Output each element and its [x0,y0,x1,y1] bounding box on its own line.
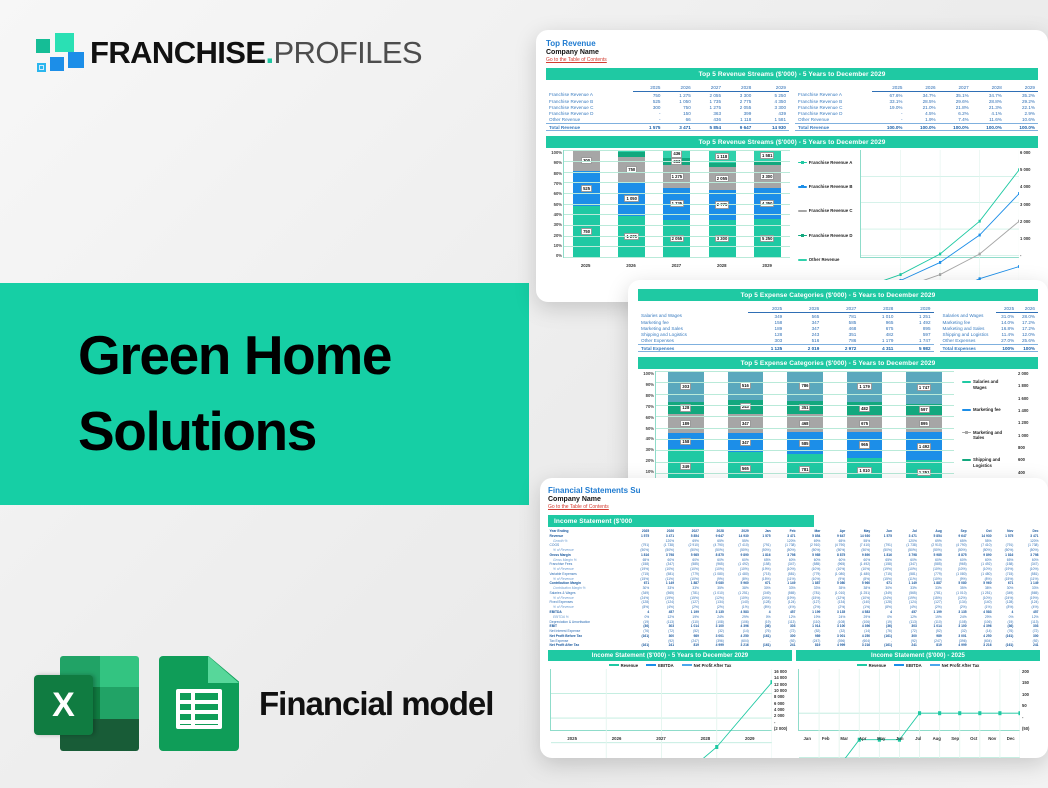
income-monthly-line-chart[interactable]: 20015010050-(50) JanFebMarAprMayJunJulAu… [796,669,1040,745]
legend-item[interactable]: Franchise Revenue B [798,184,854,190]
format-footer: X Financial model [34,656,493,751]
bar-value-label: 750 [581,228,592,235]
y-tick: 90% [638,382,654,387]
legend-swatch [682,664,692,666]
bar-segment[interactable]: 895 [906,415,942,432]
y-tick: 10 000 [774,688,792,693]
legend-label: Franchise Revenue C [809,208,853,214]
financial-sheet-title: Financial Statements Su [548,486,1040,495]
y-tick: 4 000 [1020,184,1038,189]
y-tick: 0% [546,253,562,258]
legend-label: Net Profit After Tax [942,663,980,668]
legend-swatch [798,259,807,261]
col-header: 2027 [822,305,859,313]
legend-label: Salaries and Wages [973,379,1012,390]
bar-value-label: 781 [799,466,810,473]
y-tick: 200 [1022,669,1040,674]
bar-value-label: 1 492 [917,443,931,450]
y2-tick: 1 400 [1018,408,1038,413]
bar-value-label: 2 775 [715,201,729,208]
y-tick: 70% [546,181,562,186]
y-tick: - [774,720,792,725]
y-tick: - [1022,715,1040,720]
bar-value-label: 3 300 [760,173,774,180]
y-tick: 80% [546,171,562,176]
financial-company-name: Company Name [548,496,1040,503]
legend-item[interactable]: Franchise Revenue C [798,208,854,214]
expense-percent-table: 20252026Salaries and Wages31.0%28.0%Mark… [940,305,1039,352]
y2-tick: 800 [1018,445,1038,450]
legend-item[interactable]: Franchise Revenue A [798,160,854,166]
y-tick: (2 000) [774,726,792,731]
x-tick: Apr [854,736,873,741]
table-row: Net Profit After Tax(161)2418194 9993 21… [548,643,1040,647]
revenue-line-chart[interactable]: 6 0005 0004 0003 0002 0001 000- [860,150,1038,272]
google-sheets-icon [159,656,239,751]
gridline [564,236,790,237]
bar-value-label: 303 [680,383,691,390]
table-total-row: Total Expenses100%100% [940,344,1039,351]
y2-tick: 1 800 [1018,383,1038,388]
bar-value-label: 436 [671,150,682,157]
bar-value-label: 349 [680,463,691,470]
y-tick: 1 000 [1020,236,1038,241]
gridline [656,382,954,383]
y-tick: 6 000 [774,701,792,706]
legend-swatch [798,210,807,212]
table-row: Other Expenses3035167861 1791 747 [638,338,934,345]
legend-label: Franchise Revenue D [809,233,853,239]
x-tick: Mar [835,736,854,741]
bar-segment[interactable]: 158 [668,433,704,449]
legend-label: Other Revenue [809,257,840,263]
y-tick: 50% [638,426,654,431]
x-tick: Dec [1002,736,1021,741]
legend-swatch [857,664,867,666]
bar-segment[interactable]: 303 [668,371,704,401]
title-banner: Green Home Solutions [0,283,529,505]
y-tick: 14 000 [774,675,792,680]
table-row: Salaries and Wages31.0%28.0% [940,313,1039,320]
col-header: 2029 [896,305,933,313]
bar-segment[interactable]: 1 275 [663,165,690,188]
legend-label: Revenue [869,663,886,668]
bar-segment[interactable]: 128 [668,402,704,415]
x-tick: 2028 [692,736,719,741]
bar-value-label: 597 [919,406,930,413]
bar-segment[interactable]: 1 179 [847,371,883,402]
legend-label: Marketing and Sales [973,430,1012,441]
x-tick: Feb [817,736,836,741]
gridline [564,204,790,205]
bar-segment[interactable]: 1 492 [906,432,942,460]
financial-model-label: Financial model [259,685,493,723]
legend-item[interactable]: Other Revenue [798,257,854,263]
excel-x-letter: X [34,675,93,735]
y-tick: 2 000 [1020,219,1038,224]
x-tick: May [872,736,891,741]
y-tick: 150 [1022,680,1040,685]
gridline [564,182,790,183]
logo-word-franchise: FRANCHISE [90,35,265,70]
logo-mark-icon [30,30,76,76]
col-header: 2025 [633,84,663,92]
gridline [564,246,790,247]
y2-tick: 2 000 [1018,371,1038,376]
bar-value-label: 1 747 [917,384,931,391]
gridline [564,214,790,215]
y-tick: 30% [546,222,562,227]
legend-swatch [798,186,807,188]
table-row: Other Revenue-664361 1181 581 [546,117,789,124]
bar-segment[interactable]: 1 747 [906,371,942,404]
gridline [564,225,790,226]
bar-value-label: 525 [581,185,592,192]
legend-item[interactable]: Revenue [609,663,638,668]
bar-segment[interactable]: 482 [847,402,883,415]
financial-statements-card[interactable]: Financial Statements Su Company Name Go … [540,478,1048,758]
col-header: 2029 [754,84,789,92]
income-monthly-chart-header: Income Statement ($'000) - 2025 [796,650,1040,661]
table-row: Franchise Revenue A67.6%34.7%35.1%34.7%3… [795,92,1038,99]
y-tick: 4 000 [774,707,792,712]
y-tick: 20% [546,233,562,238]
y-tick: 20% [638,458,654,463]
y-tick: 60% [546,191,562,196]
gridline [656,405,954,406]
bar-value-label: 189 [680,420,691,427]
bar-segment[interactable]: 965 [847,432,883,457]
legend-label: Revenue [621,663,638,668]
gridline [656,371,954,372]
table-total-row: Total Expenses1 1252 0192 9724 3115 982 [638,344,934,351]
revenue-toc-link[interactable]: Go to the Table of Contents [546,57,1038,63]
gridline [656,428,954,429]
bar-segment[interactable]: 243 [728,400,764,414]
y-tick: 70% [638,404,654,409]
gridline [656,473,954,474]
bar-segment[interactable]: 2 055 [709,167,736,190]
legend-item[interactable]: Franchise Revenue D [798,233,854,239]
bar-value-label: 965 [859,441,870,448]
legend-item[interactable]: Marketing fee [962,407,1012,413]
col-header: 2028 [859,305,896,313]
bar-value-label: 895 [919,420,930,427]
y2-tick: 1 600 [1018,396,1038,401]
y-tick: 60% [638,415,654,420]
gridline [656,439,954,440]
bar-value-label: 1 179 [857,383,871,390]
x-tick: Sep [946,736,965,741]
bar-value-label: 347 [740,439,751,446]
col-header: 2027 [694,84,724,92]
gridline [656,462,954,463]
col-header: 2026 [905,84,938,92]
col-header: 2028 [972,84,1005,92]
y-tick: 5 000 [1020,167,1038,172]
x-tick: Jan [798,736,817,741]
table-row: Other Revenue-1.9%7.4%11.6%10.6% [795,117,1038,124]
expense-chart-header: Top 5 Expense Categories ($'000) - 5 Yea… [638,357,1038,369]
legend-item[interactable]: Net Profit After Tax [930,663,980,668]
legend-item[interactable]: Net Profit After Tax [682,663,732,668]
legend-label: Shipping and Logistics [973,457,1012,468]
legend-label: Franchise Revenue A [809,160,853,166]
bar-value-label: 585 [799,440,810,447]
logo-wordmark: FRANCHISE.PROFILES [90,35,422,71]
y-tick: 90% [546,160,562,165]
legend-swatch [609,664,619,666]
legend-item[interactable]: Shipping and Logistics [962,457,1012,468]
table-row: Salaries and Wages3495657811 0101 251 [638,313,934,320]
revenue-company-name: Company Name [546,49,1038,56]
revenue-stacked-bar-chart[interactable]: 100%90%80%70%60%50%40%30%20%10%0% 300525… [546,150,792,272]
bar-segment[interactable]: 786 [787,371,823,401]
revenue-table-header: Top 5 Revenue Streams ($'000) - 5 Years … [546,68,1038,80]
bar-segment[interactable]: 1 581 [754,150,781,161]
bar-segment[interactable]: 525 [573,171,600,207]
x-tick: 2026 [603,736,630,741]
col-header: 2026 [785,305,822,313]
bar-value-label: 347 [740,420,751,427]
legend-label: EBITDA [658,663,674,668]
financial-toc-link[interactable]: Go to the Table of Contents [548,504,1040,510]
y2-tick: 1 000 [1018,433,1038,438]
legend-item[interactable]: Marketing and Sales [962,430,1012,441]
bar-segment[interactable]: 3 300 [754,165,781,189]
gridline [564,193,790,194]
income-statement-header: Income Statement ($'000 [548,515,814,527]
x-tick: Jul [909,736,928,741]
logo-word-profiles: PROFILES [273,35,422,70]
y-tick: 2 000 [774,713,792,718]
income-5yr-line-chart[interactable]: 16 00014 00012 00010 0008 0006 0004 0002… [548,669,792,745]
brand-logo: FRANCHISE.PROFILES [30,30,422,76]
bar-value-label: 1 581 [760,152,774,159]
y-tick: 8 000 [774,694,792,699]
page-title: Green Home Solutions [78,318,391,470]
gridline [564,172,790,173]
col-header: 2028 [724,84,754,92]
y2-tick: 400 [1018,470,1038,475]
bar-value-label: 2 055 [715,175,729,182]
legend-label: Marketing fee [973,407,1001,413]
y2-tick: 600 [1018,457,1038,462]
y-tick: 80% [638,393,654,398]
col-header: 2026 [1017,305,1038,313]
legend-swatch [798,235,807,237]
y-tick: 30% [638,447,654,452]
bar-segment[interactable]: 2 775 [709,190,736,221]
bar-value-label: 1 118 [715,153,729,160]
revenue-chart-header: Top 5 Revenue Streams ($'000) - 5 Years … [546,136,1038,148]
gridline [564,161,790,162]
legend-item[interactable]: EBITDA [646,663,674,668]
y2-tick: 1 200 [1018,420,1038,425]
y-tick: 16 000 [774,669,792,674]
bar-value-label: 1 050 [624,195,638,202]
income-5yr-chart-header: Income Statement ($'000) - 5 Years to De… [548,650,792,661]
expense-table-header: Top 5 Expense Categories ($'000) - 5 Yea… [638,289,1038,301]
revenue-percent-table: 20252026202720282029Franchise Revenue A6… [795,84,1038,131]
col-header: 2025 [748,305,785,313]
gridline [656,416,954,417]
legend-swatch [962,381,971,383]
bar-segment[interactable]: 516 [728,371,764,400]
bar-value-label: 565 [740,465,751,472]
revenue-sheet-card[interactable]: Top Revenue Company Name Go to the Table… [536,30,1048,302]
col-header: 2026 [663,84,693,92]
x-tick: 2029 [736,736,763,741]
legend-swatch [962,432,971,434]
legend-label: Net Profit After Tax [694,663,732,668]
income-statement-table: Year Ending20252026202720282029JanFebMar… [548,529,1040,647]
bar-value-label: 1 275 [670,173,684,180]
legend-swatch [930,664,940,666]
x-tick: 2029 [754,263,781,268]
y-tick: 40% [638,436,654,441]
x-tick: Oct [965,736,984,741]
x-tick: Nov [983,736,1002,741]
bar-value-label: 468 [799,420,810,427]
x-tick: 2025 [572,263,599,268]
legend-swatch [962,459,971,461]
y-tick: 100% [546,150,562,155]
col-header: 2029 [1005,84,1038,92]
y-tick: 100% [638,371,654,376]
legend-swatch [962,409,971,411]
income-5yr-legend: RevenueEBITDANet Profit After Tax [548,661,792,669]
bar-segment[interactable]: 1 050 [618,182,645,216]
x-tick: 2025 [559,736,586,741]
gridline [564,257,790,258]
y-tick: 12 000 [774,682,792,687]
y-tick: 40% [546,212,562,217]
revenue-sheet-title: Top Revenue [546,39,1038,48]
bar-segment[interactable]: 351 [787,401,823,414]
x-tick: Aug [928,736,947,741]
y-tick: 100 [1022,692,1040,697]
income-monthly-legend: RevenueEBITDANet Profit After Tax [796,661,1040,669]
bar-segment[interactable]: 436 [663,150,690,158]
table-row: Other Expenses27.0%25.6% [940,338,1039,345]
legend-swatch [894,664,904,666]
y-tick: 10% [546,243,562,248]
legend-swatch [646,664,656,666]
gridline [564,150,790,151]
excel-icon: X [34,656,139,751]
col-header: 2025 [872,84,905,92]
legend-swatch [798,162,807,164]
legend-item[interactable]: Salaries and Wages [962,379,1012,390]
y-tick: 6 000 [1020,150,1038,155]
revenue-values-table: 20252026202720282029Franchise Revenue A7… [546,84,789,131]
bar-value-label: 786 [799,382,810,389]
x-tick: 2026 [617,263,644,268]
legend-label: Franchise Revenue B [809,184,853,190]
y-tick: 50% [546,202,562,207]
y-tick: (50) [1022,726,1040,731]
y-tick: 10% [638,469,654,474]
y-tick: 3 000 [1020,202,1038,207]
table-total-row: Total Revenue100.0%100.0%100.0%100.0%100… [795,123,1038,130]
gridline [656,394,954,395]
y-tick: 50 [1022,703,1040,708]
gridline [656,450,954,451]
table-row: Franchise Revenue A7501 2752 0553 3005 2… [546,92,789,99]
x-tick: Jun [891,736,910,741]
x-tick: 2028 [708,263,735,268]
bar-value-label: 675 [859,420,870,427]
revenue-chart-legend: Franchise Revenue AFranchise Revenue BFr… [798,150,854,272]
col-header: 2027 [939,84,972,92]
legend-item[interactable]: EBITDA [894,663,922,668]
x-tick: 2027 [648,736,675,741]
col-header: 2025 [996,305,1017,313]
legend-item[interactable]: Revenue [857,663,886,668]
y-tick: - [1020,253,1038,258]
expense-values-table: 20252026202720282029Salaries and Wages34… [638,305,934,352]
table-total-row: Total Revenue1 5753 4715 8549 64714 930 [546,123,789,130]
x-tick: 2027 [663,263,690,268]
legend-label: EBITDA [906,663,922,668]
